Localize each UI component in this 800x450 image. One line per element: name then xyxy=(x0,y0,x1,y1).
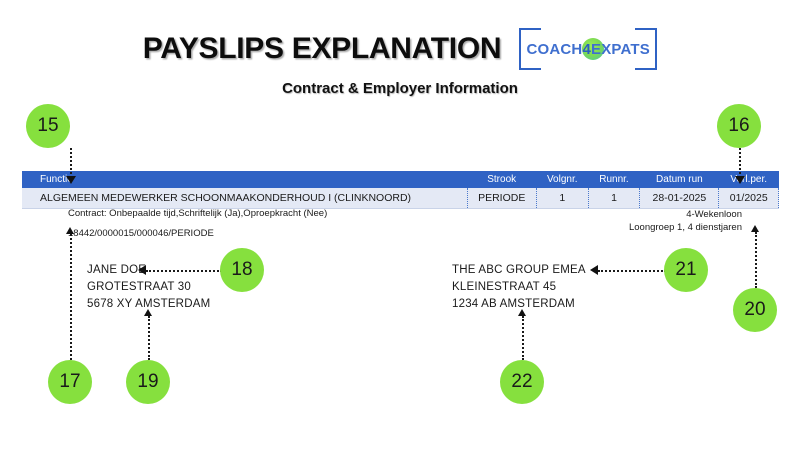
arrow-22 xyxy=(518,309,526,316)
leader-line-15 xyxy=(70,148,72,178)
callout-badge-22[interactable]: 22 xyxy=(500,360,544,404)
column-header-functie: Functie xyxy=(22,171,467,188)
column-header-volgnr: Volgnr. xyxy=(537,171,588,188)
arrow-19 xyxy=(144,309,152,316)
callout-badge-21[interactable]: 21 xyxy=(664,248,708,292)
callout-badge-16[interactable]: 16 xyxy=(717,104,761,148)
payslip-table: Functie Strook Volgnr. Runnr. Datum run … xyxy=(22,171,779,209)
cell-functie: ALGEMEEN MEDEWERKER SCHOONMAAKONDERHOUD … xyxy=(22,188,467,208)
employer-address-block: THE ABC GROUP EMEA KLEINESTRAAT 45 1234 … xyxy=(452,262,586,313)
callout-badge-19[interactable]: 19 xyxy=(126,360,170,404)
leader-line-16 xyxy=(739,148,741,178)
arrow-18 xyxy=(138,265,146,275)
employer-street: KLEINESTRAAT 45 xyxy=(452,279,586,296)
payslip-explanation-page: PAYSLIPS EXPLANATION COACH4EXPATS Contra… xyxy=(0,0,800,450)
leader-line-19 xyxy=(148,316,150,360)
logo-text: COACH4EXPATS xyxy=(519,28,657,70)
employer-name: THE ABC GROUP EMEA xyxy=(452,262,586,279)
header: PAYSLIPS EXPLANATION COACH4EXPATS xyxy=(0,28,800,70)
column-header-verl-per: Verl.per. xyxy=(719,171,778,188)
logo-text-digit: 4 xyxy=(582,41,591,58)
logo-text-part1: COACH xyxy=(526,41,582,58)
contract-number-text: 18442/0000015/000046/PERIODE xyxy=(68,228,214,239)
page-title: PAYSLIPS EXPLANATION xyxy=(143,32,502,66)
callout-badge-20[interactable]: 20 xyxy=(733,288,777,332)
cell-verl-per: 01/2025 xyxy=(719,188,778,208)
arrow-20 xyxy=(751,225,759,232)
pay-scale-text: Loongroep 1, 4 dienstjaren xyxy=(629,221,742,234)
arrow-21 xyxy=(590,265,598,275)
column-header-datum-run: Datum run xyxy=(640,171,718,188)
cell-strook: PERIODE xyxy=(468,188,536,208)
leader-line-22 xyxy=(522,316,524,360)
cell-runnr: 1 xyxy=(589,188,640,208)
callout-badge-18[interactable]: 18 xyxy=(220,248,264,292)
leader-line-20 xyxy=(755,232,757,288)
arrow-17 xyxy=(66,227,74,234)
callout-badge-15[interactable]: 15 xyxy=(26,104,70,148)
contract-details-text: Contract: Onbepaalde tijd,Schriftelijk (… xyxy=(68,208,327,219)
column-header-runnr: Runnr. xyxy=(589,171,640,188)
column-header-strook: Strook xyxy=(468,171,536,188)
cell-datum-run: 28-01-2025 xyxy=(640,188,718,208)
cell-volgnr: 1 xyxy=(537,188,588,208)
arrow-16 xyxy=(735,176,745,184)
leader-line-18 xyxy=(146,270,222,272)
column-divider xyxy=(778,188,779,208)
logo-text-part2: EXPATS xyxy=(591,41,650,58)
leader-line-17 xyxy=(70,234,72,360)
coach4expats-logo: COACH4EXPATS xyxy=(519,28,657,70)
arrow-15 xyxy=(66,176,76,184)
page-subtitle: Contract & Employer Information xyxy=(0,80,800,97)
employee-street: GROTESTRAAT 30 xyxy=(87,279,210,296)
pay-period-type: 4-Wekenloon xyxy=(629,208,742,221)
leader-line-21 xyxy=(598,270,666,272)
table-header-row: Functie Strook Volgnr. Runnr. Datum run … xyxy=(22,171,779,188)
callout-badge-17[interactable]: 17 xyxy=(48,360,92,404)
table-row: ALGEMEEN MEDEWERKER SCHOONMAAKONDERHOUD … xyxy=(22,188,779,209)
column-divider xyxy=(778,171,779,188)
pay-period-info: 4-Wekenloon Loongroep 1, 4 dienstjaren xyxy=(629,208,742,234)
